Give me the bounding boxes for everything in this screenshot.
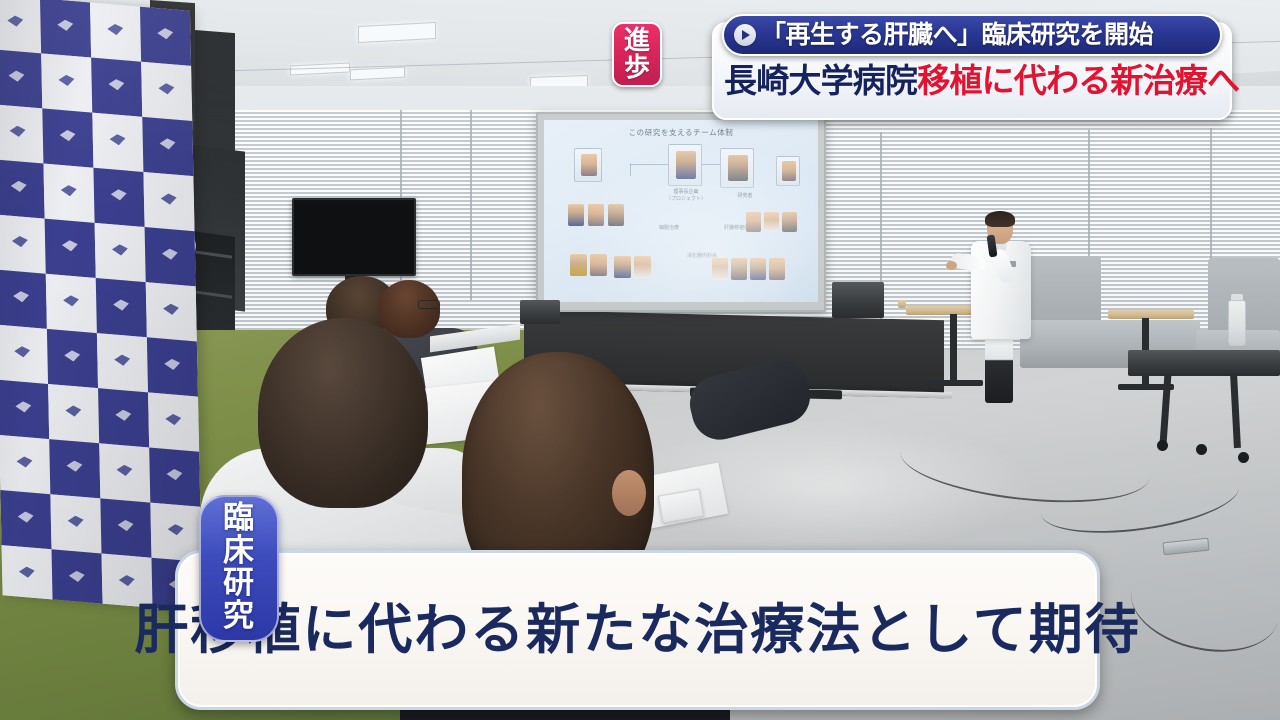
water-bottle bbox=[1228, 300, 1246, 346]
play-circle-icon bbox=[734, 24, 756, 46]
av-cart bbox=[832, 282, 884, 318]
screen-foot bbox=[808, 390, 842, 400]
headline-line2: 長崎大学病院移植に代わる新治療へ bbox=[724, 64, 1239, 97]
headline-pill: 「再生する肝臓へ」臨床研究を開始 bbox=[722, 14, 1222, 56]
projected-slide: この研究を支えるチーム体制 理事長企画（プロジェクト） 研 bbox=[544, 120, 818, 302]
caption-text: 肝移植に代わる新たな治療法として期待 bbox=[134, 603, 1140, 657]
kicker-badge: 進歩 bbox=[612, 22, 662, 87]
headline-main: 移植に代わる新治療へ bbox=[917, 62, 1239, 99]
foreground-person-ear bbox=[612, 470, 646, 516]
presenter-speaker bbox=[955, 213, 1047, 405]
caster-wheel bbox=[1238, 452, 1249, 463]
screen-glare bbox=[544, 120, 818, 302]
blind-seam bbox=[470, 110, 472, 300]
caster-wheel bbox=[1196, 444, 1207, 455]
presenter-hair bbox=[985, 211, 1015, 227]
headline-organization: 長崎大学病院 bbox=[724, 62, 917, 99]
presenter-left-hand bbox=[946, 261, 957, 270]
checkered-banner-backdrop bbox=[0, 0, 203, 612]
meeting-table bbox=[1108, 310, 1194, 319]
projection-screen: この研究を支えるチーム体制 理事長企画（プロジェクト） 研 bbox=[536, 112, 826, 312]
banner-shading bbox=[0, 0, 203, 612]
journalist-head bbox=[378, 280, 440, 338]
headline-line1: 「再生する肝臓へ」臨床研究を開始 bbox=[761, 23, 1153, 48]
caster-wheel bbox=[1157, 440, 1168, 451]
presenter-legs bbox=[985, 337, 1013, 403]
eyeglasses-icon bbox=[418, 300, 440, 309]
meeting-table bbox=[898, 300, 906, 308]
caption-box: 肝移植に代わる新たな治療法として期待 bbox=[175, 550, 1100, 710]
av-cart bbox=[520, 300, 560, 324]
folding-table bbox=[1128, 350, 1280, 376]
category-pill: 臨床研究 bbox=[199, 495, 279, 642]
journalist-hair bbox=[258, 318, 428, 508]
broadcast-frame: この研究を支えるチーム体制 理事長企画（プロジェクト） 研 bbox=[0, 0, 1280, 720]
wall-monitor bbox=[292, 198, 416, 276]
